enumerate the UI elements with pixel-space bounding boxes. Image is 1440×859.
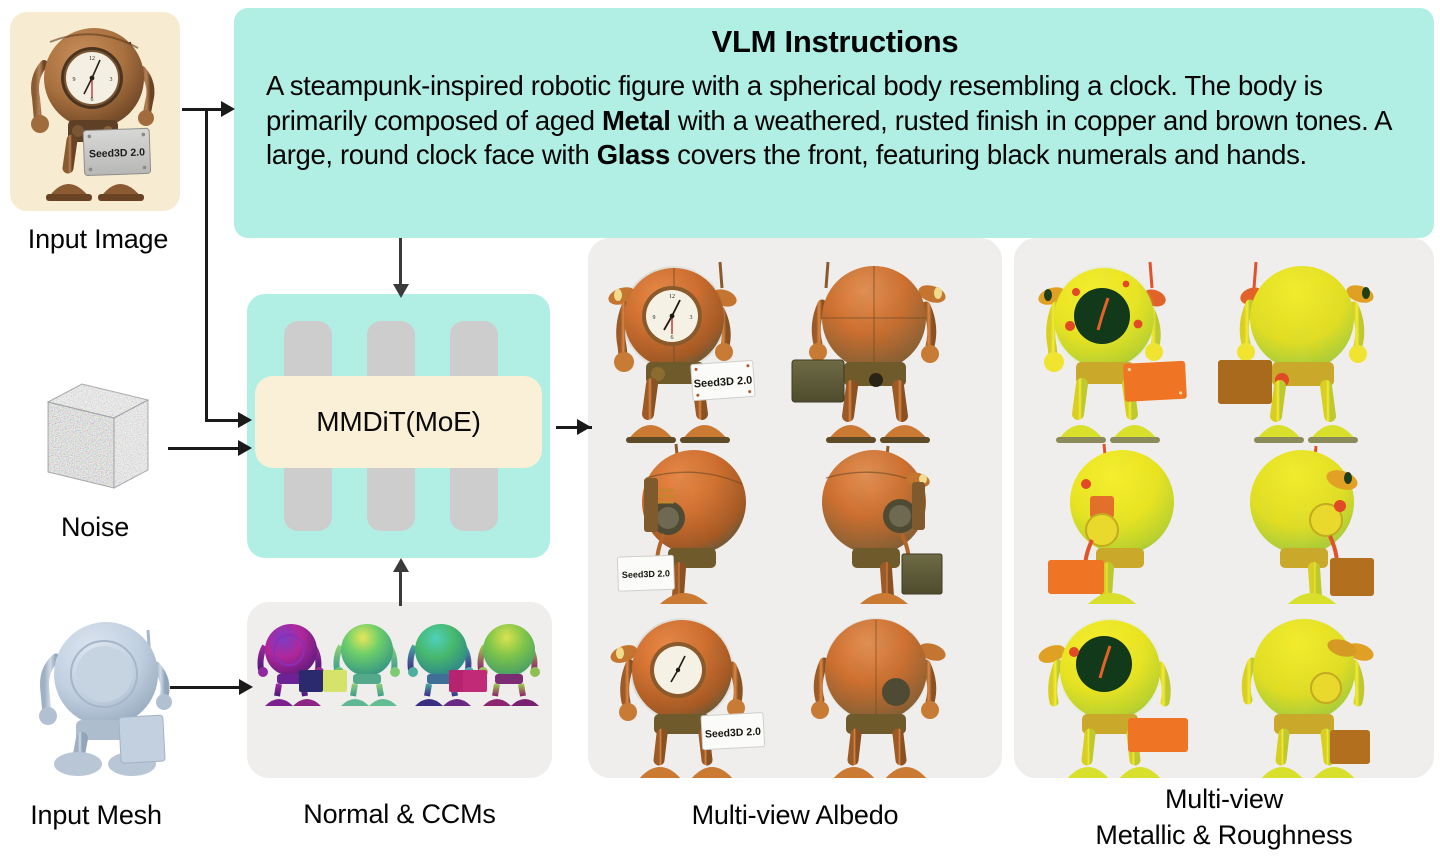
svg-text:3: 3 <box>690 315 693 321</box>
edge-input-to-mmdit-vertical <box>205 108 208 420</box>
vlm-seg-metal: Metal <box>602 105 671 136</box>
svg-text:3: 3 <box>110 77 113 83</box>
arrowhead-normal-to-mmdit <box>393 558 409 572</box>
multiview-albedo-caption: Multi-view Albedo <box>588 798 1002 834</box>
vlm-instructions-panel: VLM Instructions A steampunk-inspired ro… <box>234 8 1434 238</box>
svg-text:Seed3D 2.0: Seed3D 2.0 <box>622 568 670 580</box>
svg-text:6: 6 <box>91 97 94 103</box>
input-mesh-caption: Input Mesh <box>0 798 192 834</box>
multiview-metallic-roughness-render <box>1014 238 1434 778</box>
arrowhead-mesh-to-normal <box>239 679 253 695</box>
svg-text:12: 12 <box>669 294 675 300</box>
svg-text:12: 12 <box>89 56 95 62</box>
noise-cube-render <box>30 360 160 500</box>
input-mesh-block <box>22 612 190 782</box>
edge-input-to-mmdit-horizontal <box>205 419 241 422</box>
multiview-albedo-render: 12369 Seed3D 2.0 <box>588 238 1002 778</box>
normal-ccms-caption: Normal & CCMs <box>247 797 552 833</box>
edge-normal-to-mmdit <box>399 566 402 606</box>
multiview-albedo-panel: 12369 Seed3D 2.0 <box>588 238 1002 778</box>
multiview-metallic-roughness-panel <box>1014 238 1434 778</box>
normal-ccms-panel <box>247 602 552 778</box>
vlm-instructions-title: VLM Instructions <box>266 24 1404 60</box>
mmdit-label-band: MMDiT(MoE) <box>255 376 542 468</box>
arrowhead-input-to-vlm <box>221 101 235 117</box>
svg-text:6: 6 <box>671 335 674 341</box>
vlm-instructions-text: A steampunk-inspired robotic figure with… <box>266 69 1404 173</box>
input-image-caption: Input Image <box>0 222 196 258</box>
noise-caption: Noise <box>0 510 190 546</box>
vlm-seg-4: covers the front, featuring black numera… <box>670 139 1307 170</box>
normal-ccms-render <box>247 602 552 778</box>
svg-text:9: 9 <box>653 315 656 321</box>
input-mesh-render <box>22 612 190 782</box>
noise-block <box>30 360 160 500</box>
edge-mesh-to-normal <box>170 686 242 689</box>
edge-input-to-vlm <box>182 108 224 111</box>
arrowhead-input-to-mmdit <box>238 412 252 428</box>
pipeline-diagram: 123 69 Seed3D 2.0 Input <box>0 0 1440 859</box>
vlm-seg-glass: Glass <box>597 139 670 170</box>
svg-text:Seed3D 2.0: Seed3D 2.0 <box>89 146 146 160</box>
mmdit-label: MMDiT(MoE) <box>316 406 480 438</box>
input-image-card: 123 69 Seed3D 2.0 <box>10 12 180 211</box>
edge-vlm-to-mmdit <box>399 238 402 288</box>
arrowhead-vlm-to-mmdit <box>393 284 409 298</box>
multiview-metallic-roughness-caption: Multi-view Metallic & Roughness <box>1014 782 1434 853</box>
edge-noise-to-mmdit <box>168 447 241 450</box>
arrowhead-noise-to-mmdit <box>238 440 252 456</box>
svg-text:9: 9 <box>73 77 76 83</box>
arrowhead-mmdit-to-albedo <box>577 419 591 435</box>
input-image-render: 123 69 Seed3D 2.0 <box>10 12 180 211</box>
mmdit-moe-block[interactable]: MMDiT(MoE) <box>247 294 550 558</box>
